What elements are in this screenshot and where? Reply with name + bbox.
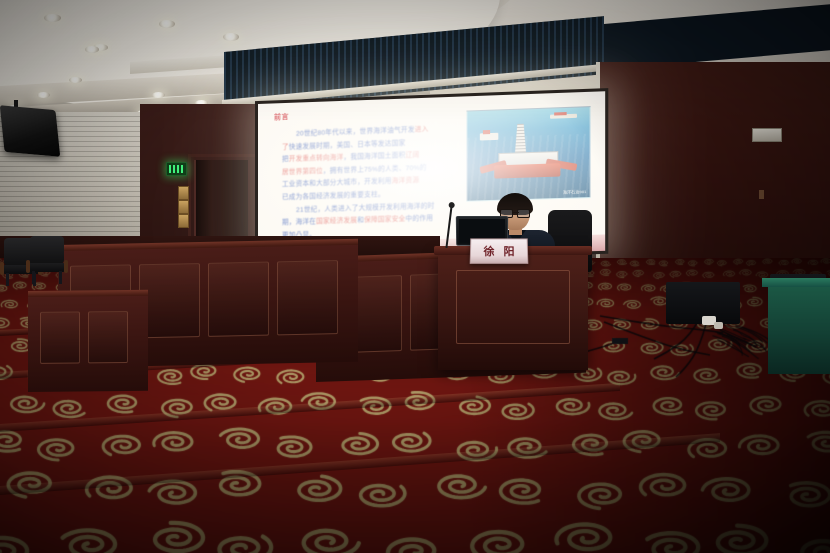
chair-leg-left bbox=[6, 273, 9, 286]
desk-nameplate: 徐 阳 bbox=[470, 238, 529, 263]
green-cloth-table bbox=[768, 282, 830, 374]
desk-panel-3-1 bbox=[40, 311, 80, 363]
desk-panel-3-2 bbox=[88, 311, 128, 363]
desk-panel-1-3 bbox=[208, 262, 269, 337]
nameplate-char-1: 徐 bbox=[483, 243, 494, 259]
chair-arm-left bbox=[26, 260, 30, 273]
conference-hall-photo: 前言 20世纪80年代以来，世界海洋油气开发进入了快速发展时期，美国、日本等发达… bbox=[0, 0, 830, 553]
chair-back bbox=[30, 236, 64, 264]
podium[interactable] bbox=[438, 252, 588, 370]
desk-front-3 bbox=[28, 295, 148, 392]
desk-panel-1-2 bbox=[139, 263, 200, 338]
desk-top-edge-3 bbox=[28, 290, 148, 297]
green-table-top bbox=[762, 278, 830, 287]
chair-leg-left bbox=[32, 271, 35, 284]
chair-arm-left bbox=[0, 262, 4, 275]
chair-arm-right bbox=[64, 260, 68, 273]
podium-panel-inset bbox=[456, 270, 570, 344]
chair-leg-right bbox=[59, 271, 62, 284]
side-chair-2[interactable] bbox=[26, 236, 68, 284]
desk-panel-1-4 bbox=[277, 260, 338, 335]
power-adapter[interactable] bbox=[714, 322, 723, 329]
nameplate-char-2: 阳 bbox=[503, 243, 514, 259]
